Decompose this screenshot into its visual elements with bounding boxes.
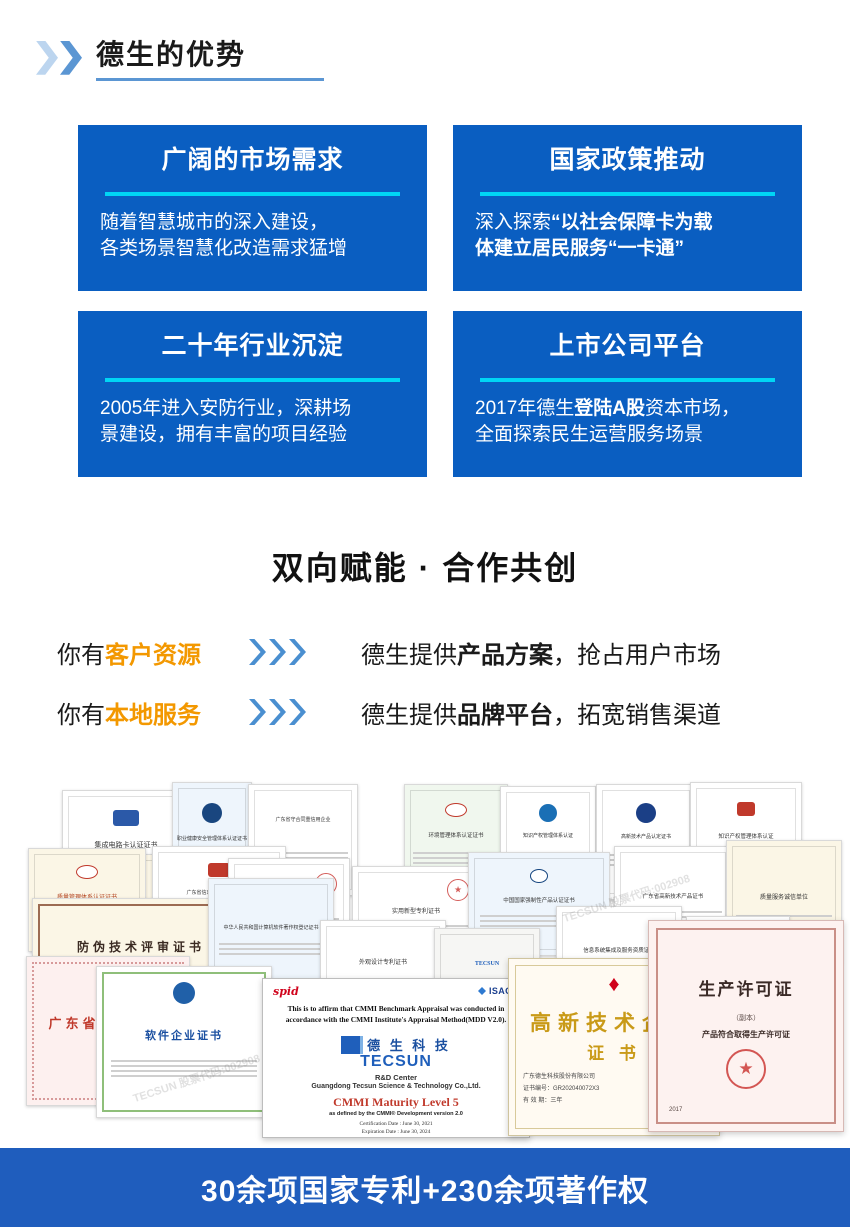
cmmi-certificate[interactable]: spid ISACA This is to affirm that CMMI B… — [262, 978, 530, 1138]
certificate-logo-icon — [202, 803, 222, 823]
cvc-logo-icon — [445, 803, 467, 817]
header-title-wrap: 德生的优势 — [96, 40, 324, 81]
certificate-title: 职业健康安全管理体系认证证书 — [173, 835, 251, 842]
certificate-title: 质量服务诚信单位 — [727, 892, 841, 901]
synergy-left-highlight: 本地服务 — [105, 702, 201, 729]
tecsun-brand-en: TECSUN — [263, 1053, 529, 1071]
certificate-thumbnail[interactable]: 软件企业证书 — [96, 966, 272, 1118]
ccc-logo-icon — [530, 869, 548, 883]
card-title: 广阔的市场需求 — [161, 147, 343, 175]
synergy-right-suffix: ，拓宽销售渠道 — [553, 702, 721, 729]
certificate-title: 实用新型专利证书 — [353, 906, 479, 915]
card-divider — [105, 192, 400, 196]
card-body-line-1: 深入探索“以社会保障卡为载 — [475, 210, 780, 237]
chevron-right-icon — [249, 639, 266, 665]
synergy-row-customer-resources: 你有客户资源 德生提供产品方案，抢占用户市场 — [0, 628, 850, 676]
chevron-right-light-icon — [36, 41, 58, 75]
page-title: 德生的优势 — [96, 40, 324, 71]
certificate-title: 外观设计专利证书 — [321, 957, 445, 966]
section-header: 德生的优势 — [36, 40, 324, 81]
footer-banner: 30余项国家专利+230余项著作权 — [0, 1148, 850, 1227]
certificate-title: 环境管理体系认证证书 — [405, 831, 507, 839]
advantage-card-market-demand[interactable]: 广阔的市场需求 随着智慧城市的深入建设， 各类场景智慧化改造需求猛增 — [78, 125, 427, 291]
chevron-right-dark-icon — [60, 41, 82, 75]
certificate-title: 广东省高新技术产品证书 — [615, 892, 731, 900]
chevron-right-triple-icon — [241, 699, 353, 725]
advantage-cards: 广阔的市场需求 随着智慧城市的深入建设， 各类场景智慧化改造需求猛增 国家政策推… — [78, 125, 774, 477]
synergy-left: 你有客户资源 — [57, 635, 241, 670]
card-title: 国家政策推动 — [549, 147, 705, 175]
hitech-cert-no-label: 证书编号： — [523, 1086, 553, 1092]
chevron-right-icon — [269, 699, 286, 725]
card-body-line-2: 全面探索民生运营服务场景 — [475, 422, 780, 449]
synergy-left-prefix: 你有 — [57, 702, 105, 729]
certificate-logo-icon — [539, 804, 557, 822]
synergy-right-suffix: ，抢占用户市场 — [553, 642, 721, 669]
certificate-logo-icon — [737, 802, 755, 816]
card-body-line-2: 各类场景智慧化改造需求猛增 — [100, 236, 405, 263]
header-underline — [96, 78, 324, 81]
production-license-copy-note: （副本） — [649, 1013, 843, 1023]
synergy-right-bold: 品牌平台 — [457, 702, 553, 729]
hitech-validity-label: 有 效 期： — [523, 1098, 550, 1104]
card-body-prefix: 深入探索 — [475, 212, 551, 233]
card-body-line-2: 景建设，拥有丰富的项目经验 — [100, 422, 405, 449]
certificate-detail — [111, 1057, 257, 1080]
cmmi-dates: Certification Date : June 30, 2021 Expir… — [263, 1120, 529, 1136]
tecsun-brand: 德 生 科 技 — [263, 1035, 529, 1054]
advantage-page: 德生的优势 广阔的市场需求 随着智慧城市的深入建设， 各类场景智慧化改造需求猛增… — [0, 0, 850, 1227]
synergy-left-prefix: 你有 — [57, 642, 105, 669]
certificate-seal-icon — [447, 879, 469, 901]
hitech-company: 广东德生科技股份有限公司 — [523, 1071, 599, 1083]
certificate-detail — [219, 940, 323, 958]
synergy-right-bold: 产品方案 — [457, 642, 553, 669]
card-body-emphasis: “以社会保障卡为载 — [551, 212, 713, 233]
cseecsia-logo-icon — [173, 982, 195, 1004]
synergy-left-highlight: 客户资源 — [105, 642, 201, 669]
cmmi-company: Guangdong Tecsun Science & Technology Co… — [263, 1083, 529, 1090]
header-chevrons — [36, 41, 82, 81]
tecsun-logo-icon — [341, 1036, 363, 1054]
spid-logo-icon: spid — [273, 985, 299, 998]
cmmi-certification-date: Certification Date : June 30, 2021 — [263, 1120, 529, 1128]
certificate-logo-icon — [208, 863, 230, 877]
chevron-right-icon — [269, 639, 286, 665]
production-license-certificate[interactable]: 生产许可证 （副本） 产品符合取得生产许可证 2017 — [648, 920, 844, 1132]
cmmi-maturity-level: CMMI Maturity Level 5 — [263, 1095, 529, 1110]
certificate-collage: 集成电路卡认证证书 职业健康安全管理体系认证证书 广东省守合同重信用企业 环境管… — [0, 770, 850, 1148]
card-divider — [480, 192, 775, 196]
footer-text: 30余项国家专利+230余项著作权 — [201, 1166, 649, 1210]
card-body: 2017年德生登陆A股资本市场， 全面探索民生运营服务场景 — [475, 396, 780, 450]
certificate-title: 知识产权管理体系认证 — [501, 832, 595, 839]
synergy-right: 德生提供产品方案，抢占用户市场 — [353, 635, 721, 670]
certificate-title: 知识产权管理体系认证 — [691, 832, 801, 840]
hitech-cert-no-value: GR202040072X3 — [553, 1086, 599, 1092]
card-body-line-1: 2005年进入安防行业，深耕场 — [100, 396, 405, 423]
card-body-prefix: 2017年德生 — [475, 398, 574, 419]
cvc-logo-icon — [76, 865, 98, 879]
synergy-left: 你有本地服务 — [57, 695, 241, 730]
chevron-right-icon — [289, 699, 306, 725]
chevron-right-icon — [289, 639, 306, 665]
hitech-cert-no: 证书编号：GR202040072X3 — [523, 1083, 599, 1095]
production-license-body: 产品符合取得生产许可证 — [649, 1029, 843, 1040]
synergy-row-local-service: 你有本地服务 德生提供品牌平台，拓宽销售渠道 — [0, 688, 850, 736]
certificate-title: 高新技术产品认定证书 — [597, 833, 695, 840]
card-body-line-1: 2017年德生登陆A股资本市场， — [475, 396, 780, 423]
certificate-logo-icon — [113, 810, 139, 826]
card-body-line-2: 体建立居民服务“一卡通” — [475, 236, 780, 263]
card-title: 上市公司平台 — [549, 333, 705, 361]
card-title: 二十年行业沉淀 — [161, 333, 343, 361]
tecsun-brand-cn: 德 生 科 技 — [367, 1035, 451, 1054]
cmmi-defined-by: as defined by the CMMI® Development vers… — [263, 1111, 529, 1117]
chevron-right-icon — [249, 699, 266, 725]
card-body: 随着智慧城市的深入建设， 各类场景智慧化改造需求猛增 — [100, 210, 405, 264]
card-divider — [480, 378, 775, 382]
advantage-card-listed-company[interactable]: 上市公司平台 2017年德生登陆A股资本市场， 全面探索民生运营服务场景 — [453, 311, 802, 477]
cmmi-affirmation: This is to affirm that CMMI Benchmark Ap… — [273, 1003, 519, 1025]
card-body-line-1: 随着智慧城市的深入建设， — [100, 210, 405, 237]
synergy-list: 你有客户资源 德生提供产品方案，抢占用户市场 你有本地服务 德生提供品牌平台，拓… — [0, 628, 850, 748]
chevron-right-triple-icon — [241, 639, 353, 665]
synergy-right-prefix: 德生提供 — [361, 642, 457, 669]
hitech-validity-value: 三年 — [550, 1098, 562, 1104]
mid-heading: 双向赋能 · 合作共创 — [0, 543, 850, 589]
advantage-card-national-policy[interactable]: 国家政策推动 深入探索“以社会保障卡为载 体建立居民服务“一卡通” — [453, 125, 802, 291]
certificate-title: 中华人民共和国计算机软件著作权登记证书 — [209, 924, 333, 931]
certificate-border — [656, 928, 836, 1124]
cmmi-rd-center: R&D Center — [263, 1073, 529, 1082]
card-body: 深入探索“以社会保障卡为载 体建立居民服务“一卡通” — [475, 210, 780, 264]
card-divider — [105, 378, 400, 382]
card-body-emphasis: 登陆A股 — [574, 398, 645, 419]
certificate-title: 中国国家强制性产品认证证书 — [469, 896, 609, 904]
hitech-meta: 广东德生科技股份有限公司 证书编号：GR202040072X3 有 效 期：三年 — [523, 1071, 599, 1107]
flame-icon: ♦ — [608, 971, 619, 997]
cmmi-expiration-date: Expiration Date : June 30, 2024 — [263, 1128, 529, 1136]
certificate-logo-icon — [636, 803, 656, 823]
production-license-title: 生产许可证 — [649, 975, 843, 1000]
card-body: 2005年进入安防行业，深耕场 景建设，拥有丰富的项目经验 — [100, 396, 405, 450]
cmmi-affirm-line-1: This is to affirm that CMMI Benchmark Ap… — [273, 1003, 519, 1014]
hitech-validity: 有 效 期：三年 — [523, 1095, 599, 1107]
synergy-right: 德生提供品牌平台，拓宽销售渠道 — [353, 695, 721, 730]
advantage-card-twenty-years[interactable]: 二十年行业沉淀 2005年进入安防行业，深耕场 景建设，拥有丰富的项目经验 — [78, 311, 427, 477]
production-license-year: 2017 — [669, 1107, 682, 1113]
cmmi-affirm-line-2: accordance with the CMMI Institute's App… — [273, 1014, 519, 1025]
certificate-title: 软件企业证书 — [97, 1027, 271, 1043]
national-seal-icon — [726, 1049, 766, 1089]
certificate-title: 广东省守合同重信用企业 — [249, 816, 357, 823]
synergy-right-prefix: 德生提供 — [361, 702, 457, 729]
card-body-suffix: 资本市场， — [645, 398, 740, 419]
